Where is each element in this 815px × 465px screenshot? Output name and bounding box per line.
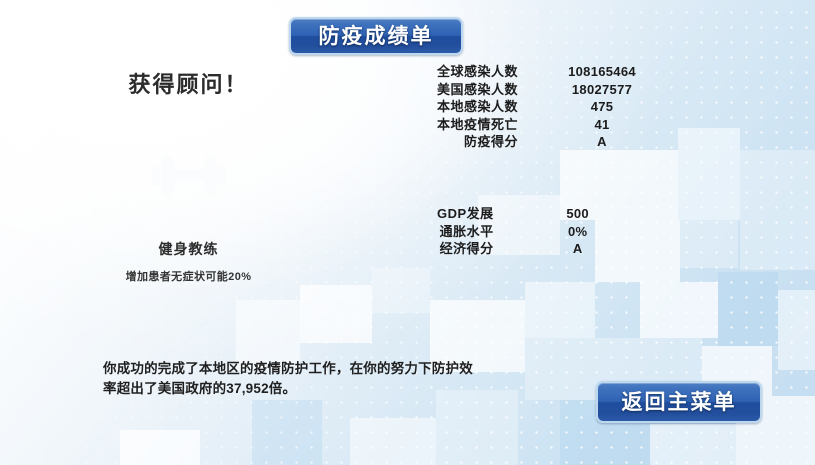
epidemic-stat-row: 本地感染人数475 xyxy=(437,98,656,116)
stat-label: GDP发展 xyxy=(437,205,524,223)
advisor-effect: 增加患者无症状可能20% xyxy=(56,268,321,284)
summary-text: 你成功的完成了本地区的疫情防护工作，在你的努力下防护效率超出了美国政府的37,9… xyxy=(103,359,485,399)
economy-stat-row: 通胀水平0% xyxy=(437,223,632,241)
epidemic-stats-table: 全球感染人数108165464美国感染人数18027577本地感染人数475本地… xyxy=(437,63,656,151)
stat-label: 本地感染人数 xyxy=(437,98,548,116)
stat-label: 本地疫情死亡 xyxy=(437,116,548,134)
stat-label: 防疫得分 xyxy=(437,133,548,151)
stat-label: 经济得分 xyxy=(437,240,524,258)
stat-value: 475 xyxy=(548,98,656,116)
stat-value: 18027577 xyxy=(548,81,656,99)
stat-value: 41 xyxy=(548,116,656,134)
stat-value: A xyxy=(548,133,656,151)
stat-value: 0% xyxy=(524,223,632,241)
epidemic-stat-row: 防疫得分A xyxy=(437,133,656,151)
stat-value: 500 xyxy=(524,205,632,223)
epidemic-stat-row: 本地疫情死亡41 xyxy=(437,116,656,134)
stat-label: 美国感染人数 xyxy=(437,81,548,99)
stat-label: 通胀水平 xyxy=(437,223,524,241)
economy-stats-table: GDP发展500通胀水平0%经济得分A xyxy=(437,205,632,258)
epidemic-stat-row: 全球感染人数108165464 xyxy=(437,63,656,81)
advisor-name: 健身教练 xyxy=(56,239,321,259)
results-screen: 防疫成绩单 获得顾问！ 健身教练 增加患者无症状可能20% 全球感染人数1081… xyxy=(0,0,815,465)
economy-stat-row: GDP发展500 xyxy=(437,205,632,223)
dumbbell-icon xyxy=(56,146,321,206)
stat-value: A xyxy=(524,240,632,258)
advisor-panel: 获得顾问！ 健身教练 增加患者无症状可能20% xyxy=(56,74,321,284)
back-button-label: 返回主菜单 xyxy=(622,392,737,413)
economy-stat-row: 经济得分A xyxy=(437,240,632,258)
title-button[interactable]: 防疫成绩单 xyxy=(289,17,463,55)
title-button-label: 防疫成绩单 xyxy=(319,26,434,47)
advisor-heading: 获得顾问！ xyxy=(56,74,321,96)
stat-value: 108165464 xyxy=(548,63,656,81)
stat-label: 全球感染人数 xyxy=(437,63,548,81)
back-to-main-menu-button[interactable]: 返回主菜单 xyxy=(596,381,762,423)
epidemic-stat-row: 美国感染人数18027577 xyxy=(437,81,656,99)
